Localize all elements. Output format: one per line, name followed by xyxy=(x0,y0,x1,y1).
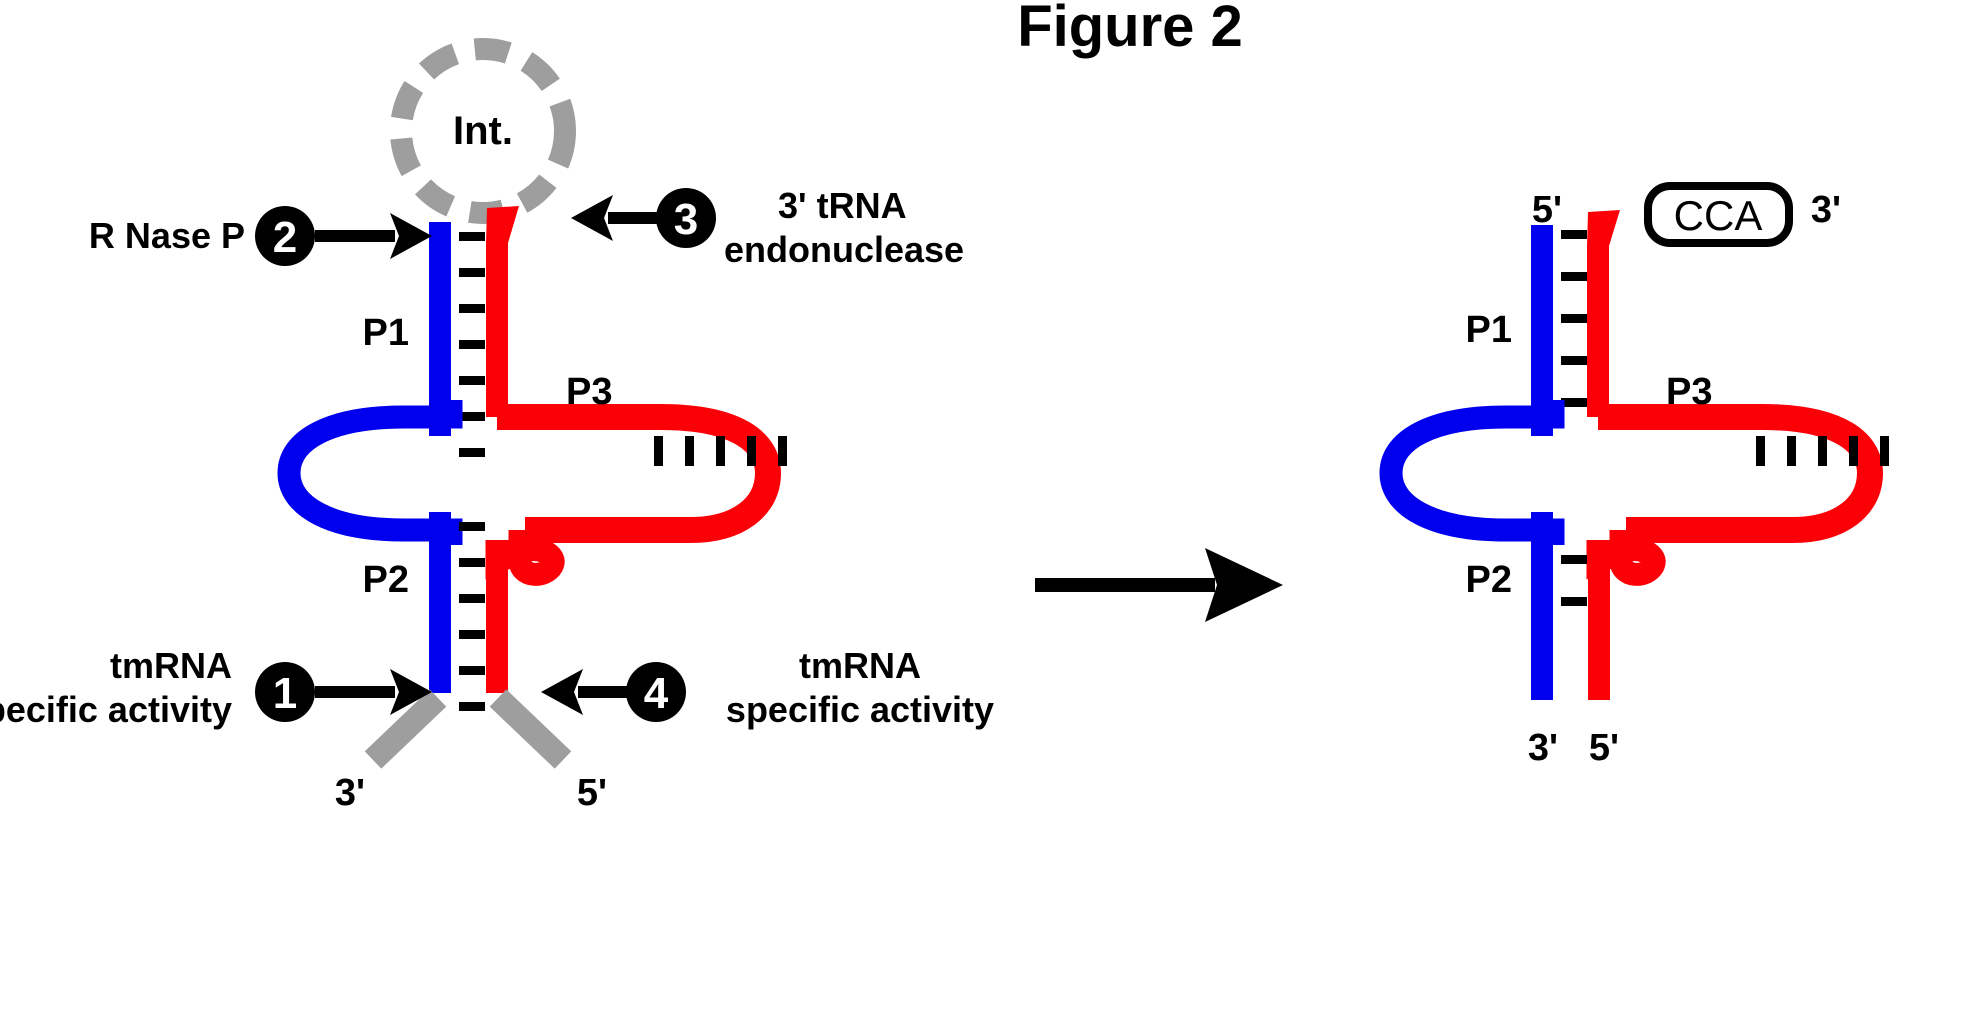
p3-rung xyxy=(1756,436,1765,466)
p2-red-strand xyxy=(486,540,508,693)
right-mol-5prime-top: 5' xyxy=(1532,189,1562,231)
p3-label: P3 xyxy=(566,371,612,413)
p1-rung xyxy=(459,268,485,277)
p3-rung xyxy=(747,436,756,466)
right-mol-5prime-bottom: 5' xyxy=(1589,727,1619,769)
p2-label: P2 xyxy=(363,559,409,601)
left-mol-3prime-end: 3' xyxy=(335,772,365,814)
annotation-3-label-line-1: 3' tRNA xyxy=(778,185,907,226)
p1-rung xyxy=(1561,314,1587,323)
left-mol-5prime-end: 5' xyxy=(577,772,607,814)
annotation-4-label-line-1: tmRNA xyxy=(799,645,921,686)
annotation-4-number: 4 xyxy=(644,669,669,718)
p1-rung xyxy=(459,232,485,241)
right-p1-label: P1 xyxy=(1466,309,1512,351)
p3-rung xyxy=(685,436,694,466)
processing-arrow-shaft xyxy=(1035,578,1215,592)
p2-rung xyxy=(459,702,485,711)
p1-rung xyxy=(1561,356,1587,365)
figure-title: Figure 2 xyxy=(1017,0,1243,59)
p1-rung xyxy=(459,376,485,385)
right-mol-3prime-top: 3' xyxy=(1811,189,1841,231)
right-p2-red-strand xyxy=(1588,540,1610,700)
p3-rung xyxy=(1818,436,1827,466)
figure-2-diagram: Figure 2 Int. P1 xyxy=(0,0,1977,1019)
p1-rung xyxy=(1561,398,1587,407)
annotation-2-number: 2 xyxy=(273,213,297,262)
p2-rung xyxy=(1561,597,1587,606)
p3-rung xyxy=(1787,436,1796,466)
right-p1-blue-strand xyxy=(1531,225,1553,417)
p1-rung xyxy=(1561,272,1587,281)
cca-box: CCA xyxy=(1648,186,1789,243)
p1-rung xyxy=(459,340,485,349)
right-p3-label: P3 xyxy=(1666,371,1712,413)
annotation-1-number: 1 xyxy=(273,669,297,718)
p2-rung xyxy=(459,666,485,675)
p1-blue-strand xyxy=(429,222,451,417)
p3-rung xyxy=(1880,436,1889,466)
p1-rung xyxy=(459,304,485,313)
p2-rung xyxy=(459,558,485,567)
p1-rung xyxy=(459,412,485,421)
right-blue-p1-p2-linker xyxy=(1531,400,1553,436)
p3-rung xyxy=(654,436,663,466)
right-mol-3prime-bottom: 3' xyxy=(1528,727,1558,769)
figure-container: Figure 2 Int. P1 xyxy=(0,0,1977,1019)
annotation-2-label-line-1: R Nase P xyxy=(89,215,245,256)
intron-label: Int. xyxy=(453,109,513,153)
p2-rung xyxy=(459,594,485,603)
p2-rung xyxy=(459,630,485,639)
p2-rung xyxy=(459,522,485,531)
cca-label: CCA xyxy=(1674,192,1763,239)
p1-rung xyxy=(459,448,485,457)
p3-rung xyxy=(1849,436,1858,466)
annotation-1-label-line-2: specific activity xyxy=(0,689,232,730)
p2-rung xyxy=(1561,555,1587,564)
p3-rung xyxy=(716,436,725,466)
p2-blue-strand xyxy=(429,540,451,693)
right-p2-label: P2 xyxy=(1466,559,1512,601)
annotation-3-number: 3 xyxy=(674,195,698,244)
p1-label: P1 xyxy=(363,312,409,354)
right-p2-blue-strand xyxy=(1531,540,1553,700)
annotation-4-label-line-2: specific activity xyxy=(726,689,994,730)
p1-rung xyxy=(1561,230,1587,239)
blue-p1-p2-linker xyxy=(429,400,451,436)
annotation-3-label-line-2: endonuclease xyxy=(724,229,964,270)
p3-rung xyxy=(778,436,787,466)
annotation-1-label-line-1: tmRNA xyxy=(110,645,232,686)
